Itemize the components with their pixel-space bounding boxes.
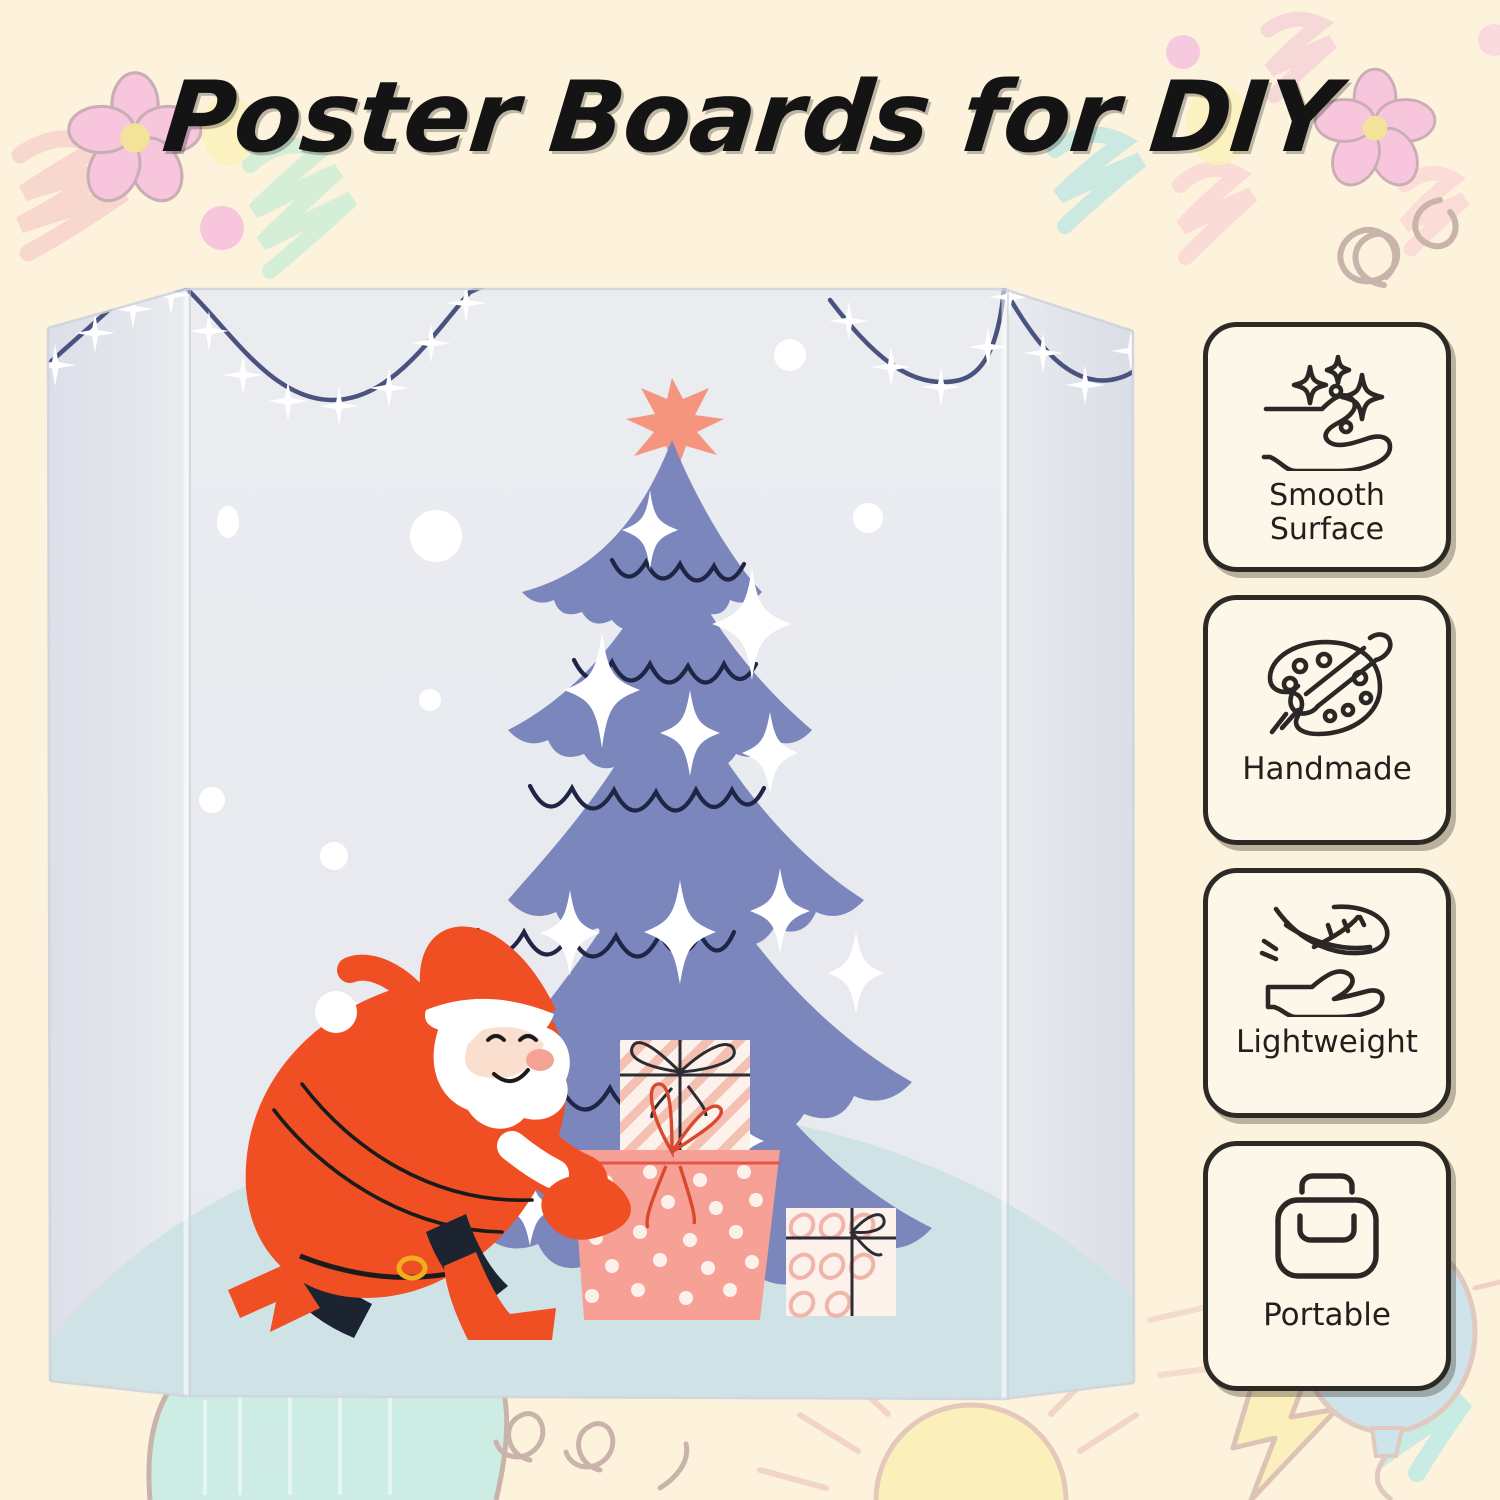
feature-label: Smooth Surface bbox=[1269, 479, 1385, 546]
feature-card-portable[interactable]: Portable bbox=[1203, 1141, 1451, 1391]
feature-card-lightweight[interactable]: Lightweight bbox=[1203, 868, 1451, 1118]
santa-hat-pompom bbox=[315, 991, 357, 1033]
feature-card-smooth-surface[interactable]: Smooth Surface bbox=[1203, 322, 1451, 572]
paint-palette-brush-icon bbox=[1252, 626, 1402, 744]
feature-label: Handmade bbox=[1242, 752, 1412, 787]
feature-label: Portable bbox=[1263, 1298, 1391, 1333]
feature-card-list: Smooth Surface Handmade bbox=[1203, 322, 1453, 1391]
feature-label: Lightweight bbox=[1236, 1025, 1418, 1060]
feature-card-handmade[interactable]: Handmade bbox=[1203, 595, 1451, 845]
sparkle-hand-icon bbox=[1252, 353, 1402, 471]
briefcase-icon bbox=[1252, 1172, 1402, 1290]
product-marketing-image: Poster Boards for DIY bbox=[0, 0, 1500, 1500]
gift-squiggle bbox=[786, 1208, 896, 1316]
feather-on-hand-icon bbox=[1252, 899, 1402, 1017]
